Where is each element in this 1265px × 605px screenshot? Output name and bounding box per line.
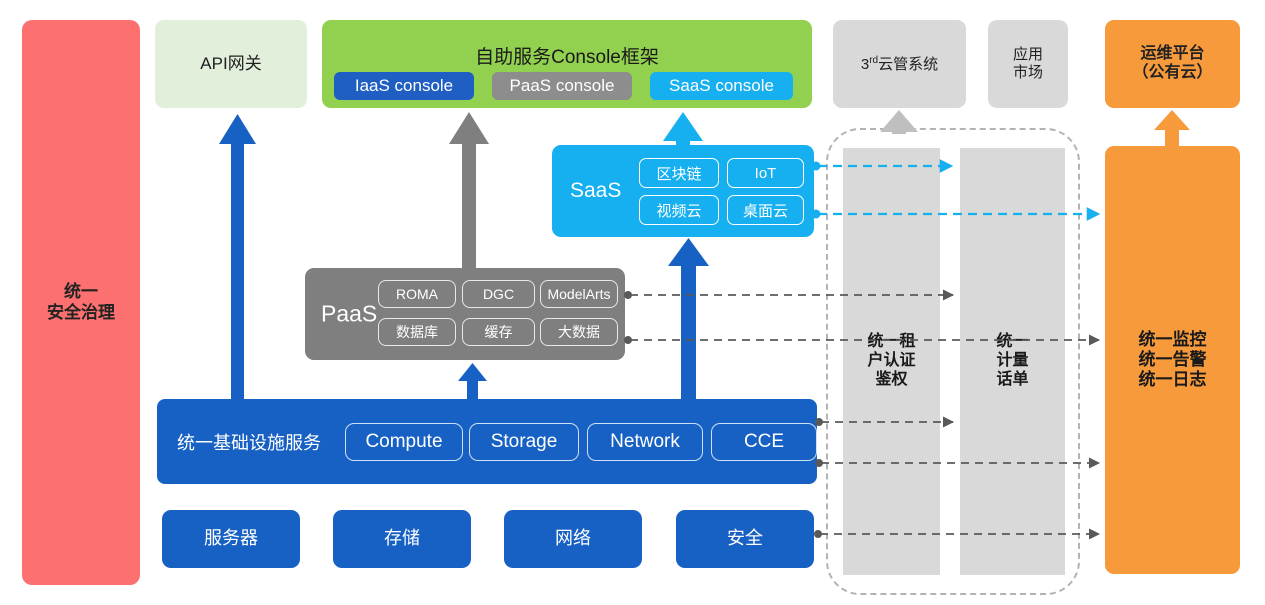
api-gateway-box: API网关	[155, 20, 307, 108]
paas-service-bigdata-label: 大数据	[558, 322, 600, 342]
paas-service-modelarts-label: ModelArts	[547, 286, 610, 302]
ops-monitoring-label: 统一监控 统一告警 统一日志	[1139, 330, 1207, 390]
infra-service-cce-label: CCE	[744, 431, 784, 453]
infra-service-network-label: Network	[610, 431, 680, 453]
app-market-box: 应用 市场	[988, 20, 1068, 108]
app-market-label: 应用 市场	[1013, 46, 1043, 81]
infra-service-storage-label: Storage	[491, 431, 558, 453]
infra-service-compute-label: Compute	[365, 431, 442, 453]
saas-service-iot[interactable]: IoT	[727, 158, 804, 188]
ops-platform-label: 运维平台 （公有云）	[1132, 45, 1212, 83]
saas-layer-box: SaaS 区块链 IoT 视频云 桌面云	[552, 145, 814, 237]
ops-monitoring-column: 统一监控 统一告警 统一日志	[1105, 146, 1240, 574]
saas-service-video-cloud-label: 视频云	[656, 200, 701, 221]
console-chip-paas-label: PaaS console	[510, 76, 615, 96]
paas-layer-box: PaaS ROMA DGC ModelArts 数据库 缓存 大数据	[305, 268, 625, 360]
arrow-to-ops-platform	[1154, 110, 1190, 146]
resource-box-server-label: 服务器	[204, 528, 258, 549]
saas-layer-label: SaaS	[570, 179, 621, 203]
third-party-cloud-mgmt-box: 3rd云管系统	[833, 20, 966, 108]
self-service-console-frame: 自助服务Console框架 IaaS console PaaS console …	[322, 20, 812, 108]
arrow-infra-to-api-gateway	[219, 114, 256, 399]
paas-service-cache-label: 缓存	[485, 322, 513, 342]
security-governance-panel: 统一 安全治理	[22, 20, 140, 585]
paas-service-dgc[interactable]: DGC	[462, 280, 535, 308]
arrow-infra-to-saas	[668, 238, 709, 399]
common-service-metering-label: 统一 计量 话单	[996, 333, 1028, 390]
paas-service-cache[interactable]: 缓存	[462, 318, 535, 346]
third-party-cloud-mgmt-label: 3rd云管系统	[861, 55, 938, 74]
security-governance-label: 统一 安全治理	[47, 282, 115, 322]
console-chip-iaas-label: IaaS console	[355, 76, 453, 96]
saas-service-blockchain-label: 区块链	[656, 163, 701, 184]
resource-box-network-label: 网络	[555, 528, 591, 549]
console-chip-paas[interactable]: PaaS console	[492, 72, 632, 100]
infra-service-storage[interactable]: Storage	[469, 423, 579, 461]
resource-box-server: 服务器	[162, 510, 300, 568]
infra-service-compute[interactable]: Compute	[345, 423, 463, 461]
resource-box-security-label: 安全	[727, 528, 763, 549]
paas-service-dgc-label: DGC	[483, 286, 514, 302]
api-gateway-label: API网关	[200, 54, 261, 74]
resource-box-storage-label: 存储	[384, 528, 420, 549]
arrow-paas-to-console	[449, 112, 489, 268]
arrow-saas-to-console	[663, 112, 703, 149]
console-frame-title: 自助服务Console框架	[322, 42, 812, 69]
third-party-prefix: 3	[861, 56, 869, 73]
infra-service-network[interactable]: Network	[587, 423, 703, 461]
paas-service-roma[interactable]: ROMA	[378, 280, 456, 308]
saas-service-blockchain[interactable]: 区块链	[639, 158, 719, 188]
console-chip-saas-label: SaaS console	[669, 76, 774, 96]
infra-service-cce[interactable]: CCE	[711, 423, 817, 461]
common-service-auth-panel: 统一租 户认证 鉴权	[843, 148, 940, 575]
architecture-diagram: 统一 安全治理 API网关 自助服务Console框架 IaaS console…	[0, 0, 1265, 605]
ops-platform-box: 运维平台 （公有云）	[1105, 20, 1240, 108]
resource-box-network: 网络	[504, 510, 642, 568]
console-chip-iaas[interactable]: IaaS console	[334, 72, 474, 100]
unified-infrastructure-label: 统一基础设施服务	[177, 429, 321, 455]
saas-service-desktop-cloud-label: 桌面云	[743, 200, 788, 221]
common-service-auth-label: 统一租 户认证 鉴权	[867, 333, 915, 390]
common-service-metering-panel: 统一 计量 话单	[960, 148, 1065, 575]
resource-box-security: 安全	[676, 510, 814, 568]
third-party-superscript: rd	[869, 55, 878, 66]
paas-service-database[interactable]: 数据库	[378, 318, 456, 346]
saas-service-iot-label: IoT	[755, 165, 777, 182]
paas-service-modelarts[interactable]: ModelArts	[540, 280, 618, 308]
console-chip-saas[interactable]: SaaS console	[650, 72, 793, 100]
third-party-suffix: 云管系统	[878, 56, 938, 73]
arrow-infra-to-paas	[458, 363, 487, 399]
unified-infrastructure-bar: 统一基础设施服务 Compute Storage Network CCE	[157, 399, 817, 484]
saas-service-desktop-cloud[interactable]: 桌面云	[727, 195, 804, 225]
paas-service-roma-label: ROMA	[396, 286, 438, 302]
saas-service-video-cloud[interactable]: 视频云	[639, 195, 719, 225]
paas-service-bigdata[interactable]: 大数据	[540, 318, 618, 346]
paas-service-database-label: 数据库	[396, 322, 438, 342]
resource-box-storage: 存储	[333, 510, 471, 568]
paas-layer-label: PaaS	[321, 301, 377, 328]
